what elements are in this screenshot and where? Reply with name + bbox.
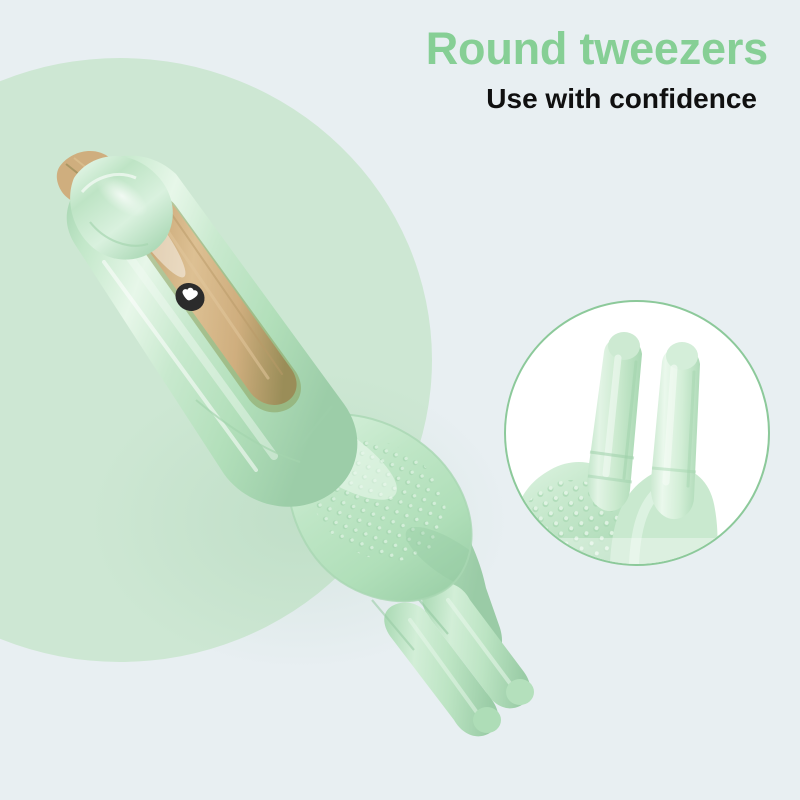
inset-tip-left-round-end [608,332,640,360]
tip-closeup-illustration [506,302,768,564]
heading-block: Round tweezers Use with confidence [0,26,768,113]
inset-tip-left [587,332,642,511]
page-subtitle: Use with confidence [0,85,757,113]
inset-tip-right [651,342,700,519]
product-banner: Round tweezers Use with confidence [0,0,800,800]
page-title: Round tweezers [0,26,768,71]
prong-tip-left [473,707,501,733]
tweezer-prongs [372,582,534,736]
prong-tip-right [506,679,534,705]
inset-tip-right-round-end [666,342,698,370]
tip-closeup-inset [504,300,770,566]
